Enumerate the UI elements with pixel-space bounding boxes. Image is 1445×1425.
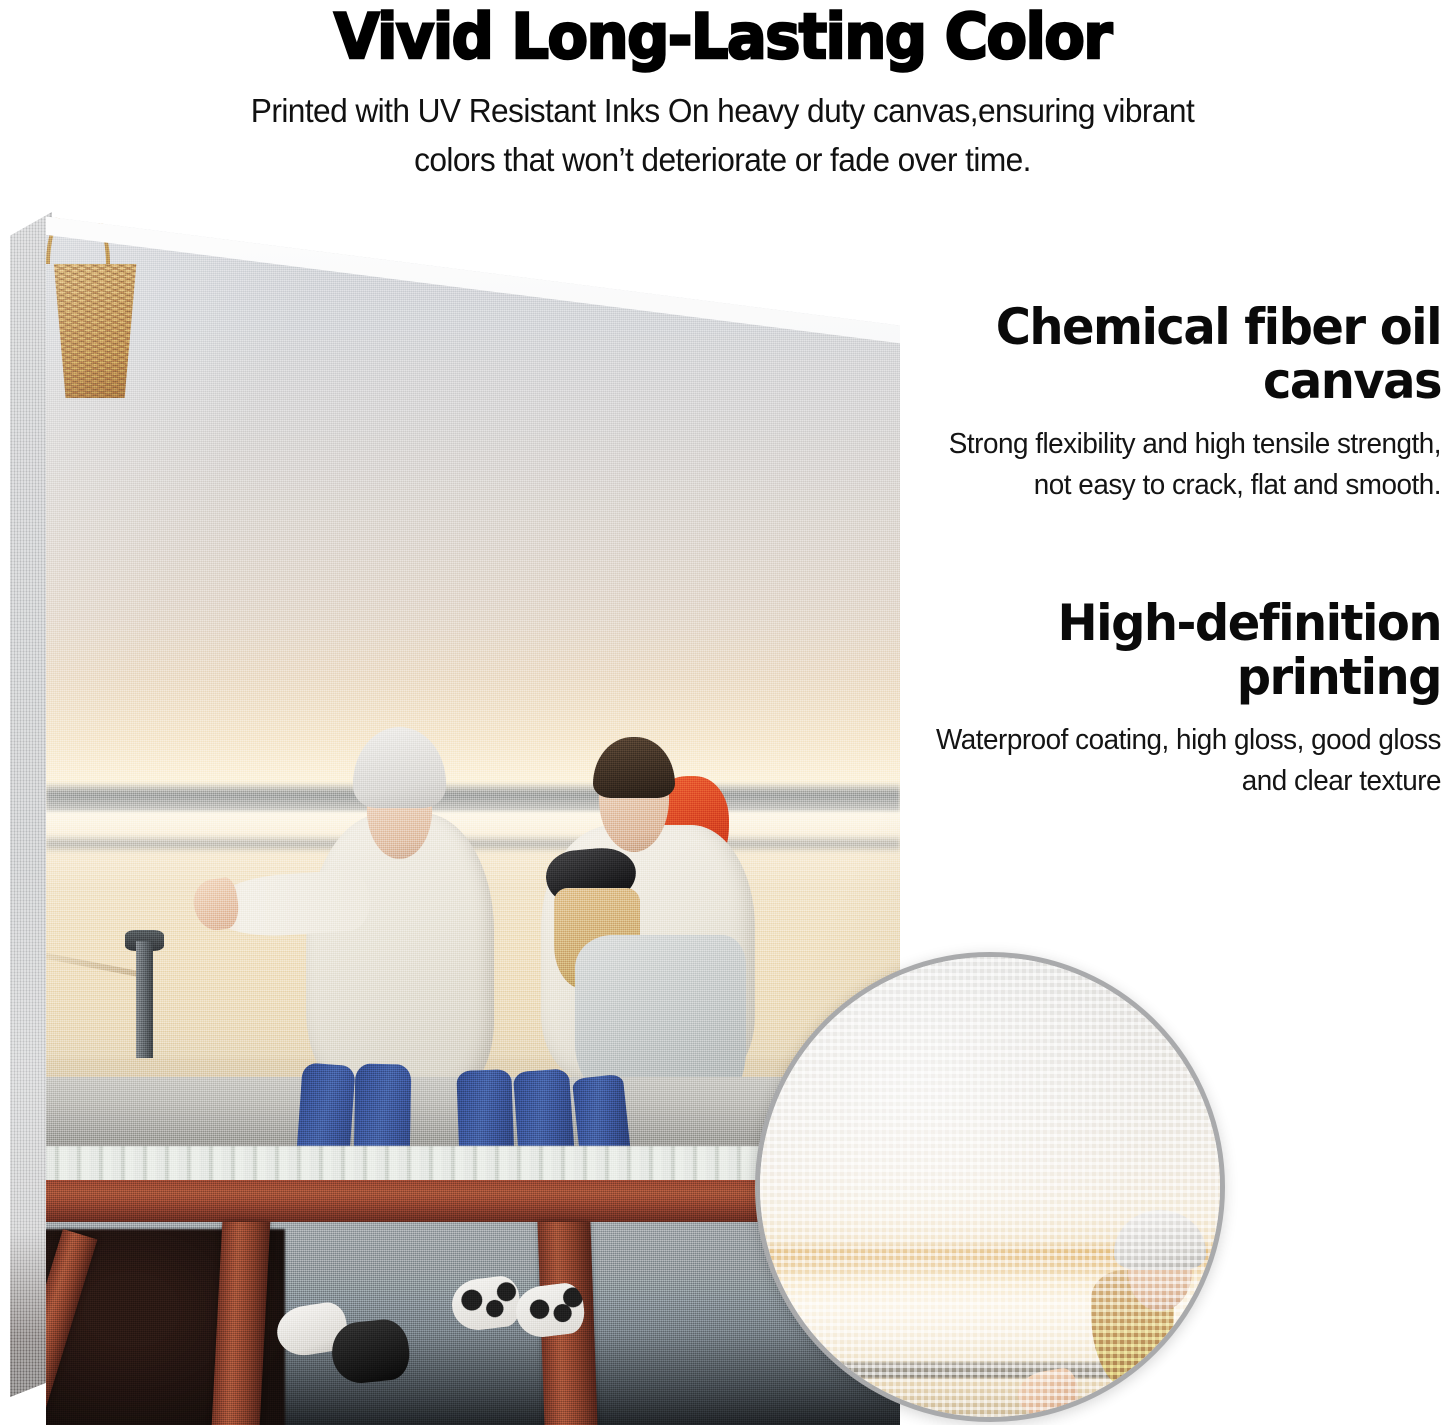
woman-beanie: [353, 727, 445, 808]
feature-high-definition-printing: High-definition printing Waterproof coat…: [901, 596, 1441, 802]
bollard-post: [136, 941, 153, 1057]
feature-description: Waterproof coating, high gloss, good glo…: [923, 720, 1441, 802]
texture-magnifier: [755, 952, 1225, 1422]
feature-description: Strong flexibility and high tensile stre…: [923, 424, 1441, 506]
man-hair: [593, 737, 675, 798]
feature-title: High-definition printing: [923, 596, 1441, 704]
feature-list: Chemical fiber oil canvas Strong flexibi…: [901, 300, 1441, 858]
basket-handle: [46, 200, 110, 264]
header: Vivid Long-Lasting Color Printed with UV…: [0, 0, 1445, 184]
page-title: Vivid Long-Lasting Color: [36, 2, 1409, 72]
product-feature-page: Vivid Long-Lasting Color Printed with UV…: [0, 0, 1445, 1425]
shoreline-band: [46, 782, 900, 811]
header-subtitle: Printed with UV Resistant Inks On heavy …: [29, 86, 1416, 184]
wicker-basket: [46, 264, 144, 399]
magnified-weave-texture: [760, 957, 1220, 1417]
feature-title: Chemical fiber oil canvas: [923, 300, 1441, 408]
canvas-side-edge: [10, 212, 52, 1397]
feature-chemical-fiber-oil-canvas: Chemical fiber oil canvas Strong flexibi…: [901, 300, 1441, 506]
